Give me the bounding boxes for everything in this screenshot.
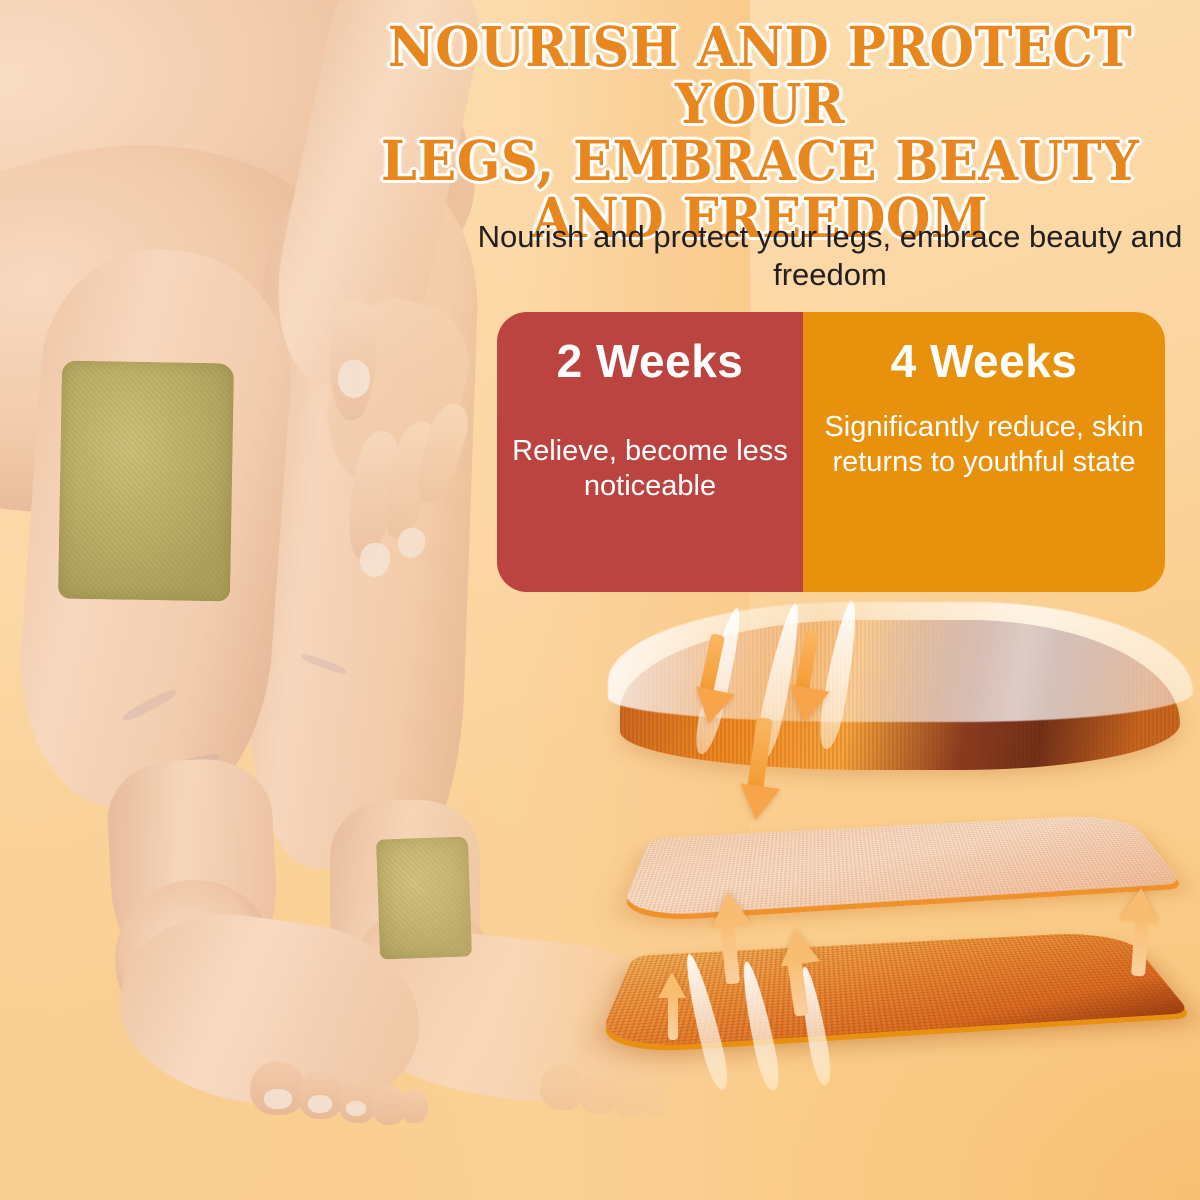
- ankle-patch: [376, 836, 472, 959]
- absorption-arrow-3: [736, 783, 780, 822]
- page-title: NOURISH AND PROTECT YOUR LEGS, EMBRACE B…: [360, 18, 1160, 246]
- absorption-arrow-2: [784, 685, 829, 725]
- headline-line-2: LEGS, EMBRACE BEAUTY: [360, 132, 1160, 189]
- panel-2-weeks-title: 2 Weeks: [557, 334, 744, 388]
- subtitle: Nourish and protect your legs, embrace b…: [470, 218, 1190, 294]
- panel-4-weeks-description: Significantly reduce, skin returns to yo…: [815, 410, 1153, 480]
- calf-patch: [58, 361, 234, 602]
- panel-2-weeks-description: Relieve, become less noticeable: [507, 434, 793, 504]
- panel-4-weeks-title: 4 Weeks: [891, 334, 1078, 388]
- front-toes: [250, 1055, 450, 1135]
- panel-4-weeks: 4 Weeks Significantly reduce, skin retur…: [803, 312, 1165, 592]
- breathable-mesh-layer: [617, 814, 1182, 918]
- headline-line-1: NOURISH AND PROTECT YOUR: [360, 18, 1160, 132]
- thumbnail: [338, 360, 370, 398]
- release-arrow-stem: [668, 994, 678, 1040]
- product-poster: NOURISH AND PROTECT YOUR LEGS, EMBRACE B…: [0, 0, 1200, 1200]
- timeline-card: 2 Weeks Relieve, become less noticeable …: [497, 312, 1165, 592]
- panel-2-weeks: 2 Weeks Relieve, become less noticeable: [497, 312, 803, 592]
- patch-layer-diagram: [600, 600, 1200, 1100]
